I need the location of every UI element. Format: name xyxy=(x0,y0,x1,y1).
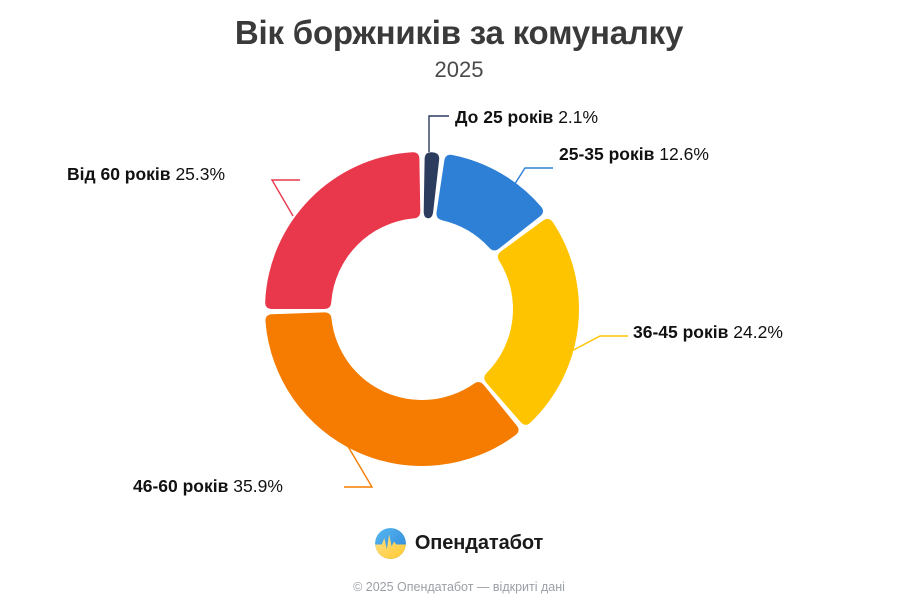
slice-label-do-25: До 25 років 2.1% xyxy=(455,108,598,127)
slice-label-value: 25.3% xyxy=(175,164,225,184)
slice-label-name: 46-60 років xyxy=(133,476,228,496)
slice-label-value: 35.9% xyxy=(233,476,283,496)
slice-label-value: 24.2% xyxy=(733,322,783,342)
slice-label-36-45: 36-45 років 24.2% xyxy=(633,323,783,342)
donut-slice[interactable] xyxy=(265,152,420,309)
slice-label-25-35: 25-35 років 12.6% xyxy=(559,145,709,164)
leader-line xyxy=(272,180,300,216)
slice-label-46-60: 46-60 років 35.9% xyxy=(133,477,283,496)
slice-label-value: 12.6% xyxy=(659,144,709,164)
chart-page: Вік боржників за комуналку 2025 До 25 ро… xyxy=(0,0,918,599)
brand-name: Опендатабот xyxy=(415,532,543,555)
copyright-text: © 2025 Опендатабот — відкриті дані xyxy=(0,580,918,594)
slice-label-name: До 25 років xyxy=(455,107,553,127)
donut-slices xyxy=(265,152,579,466)
slice-label-name: Від 60 років xyxy=(67,164,171,184)
opendatabot-logo-icon xyxy=(375,528,406,559)
slice-label-vid-60: Від 60 років 25.3% xyxy=(67,165,225,184)
brand-footer: Опендатабот xyxy=(0,528,918,559)
slice-label-name: 25-35 років xyxy=(559,144,654,164)
donut-slice[interactable] xyxy=(484,219,579,425)
donut-chart xyxy=(0,0,918,599)
slice-label-name: 36-45 років xyxy=(633,322,728,342)
donut-slice[interactable] xyxy=(424,152,439,218)
donut-slice[interactable] xyxy=(265,312,518,466)
leader-line xyxy=(429,116,449,152)
slice-label-value: 2.1% xyxy=(558,107,598,127)
